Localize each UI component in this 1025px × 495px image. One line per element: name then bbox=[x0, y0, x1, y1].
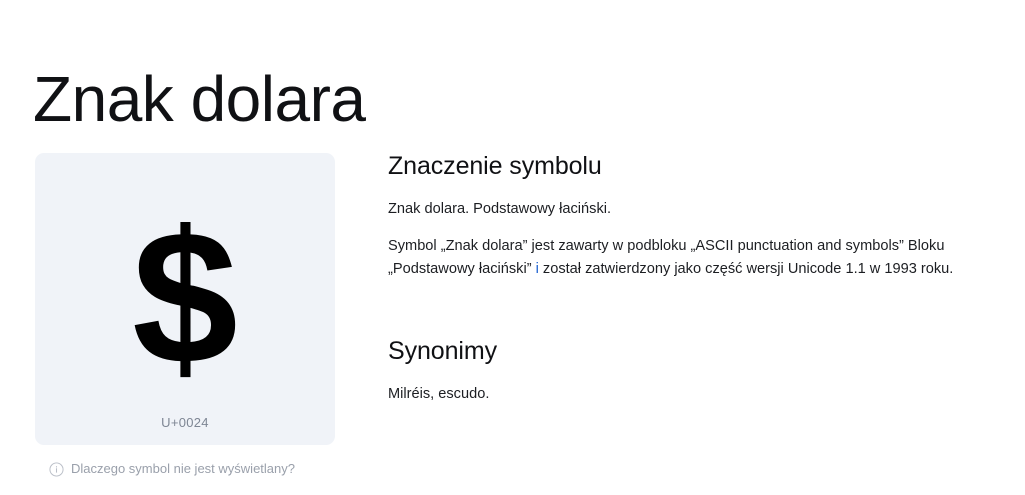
why-not-displayed-link[interactable]: Dlaczego symbol nie jest wyświetlany? bbox=[49, 461, 295, 477]
synonyms-paragraph: Milréis, escudo. bbox=[388, 383, 1004, 406]
symbol-glyph[interactable]: $ bbox=[35, 203, 335, 393]
meaning-paragraph-long-part-2: został zatwierdzony jako część wersji Un… bbox=[539, 261, 954, 277]
meaning-paragraph-short: Znak dolara. Podstawowy łaciński. bbox=[388, 198, 1004, 221]
symbol-codepoint-label: U+0024 bbox=[35, 414, 335, 432]
symbol-preview-card: $ U+0024 bbox=[35, 153, 335, 445]
synonyms-text: Milréis, escudo. bbox=[388, 386, 489, 402]
synonyms-heading: Synonimy bbox=[388, 335, 1004, 367]
description-column: Znaczenie symbolu Znak dolara. Podstawow… bbox=[388, 150, 1004, 406]
why-not-displayed-label: Dlaczego symbol nie jest wyświetlany? bbox=[71, 461, 295, 477]
meaning-paragraph-long: Symbol „Znak dolara” jest zawarty w podb… bbox=[388, 235, 1004, 281]
meaning-heading: Znaczenie symbolu bbox=[388, 150, 1004, 182]
symbol-detail-page: Znak dolara $ U+0024 Dlaczego symbol nie… bbox=[0, 0, 1025, 495]
symbol-column: $ U+0024 Dlaczego symbol nie jest wyświe… bbox=[35, 153, 335, 445]
info-circle-icon bbox=[49, 462, 64, 477]
meaning-paragraph-short-text: Znak dolara. Podstawowy łaciński. bbox=[388, 201, 611, 217]
page-title: Znak dolara bbox=[33, 61, 365, 137]
